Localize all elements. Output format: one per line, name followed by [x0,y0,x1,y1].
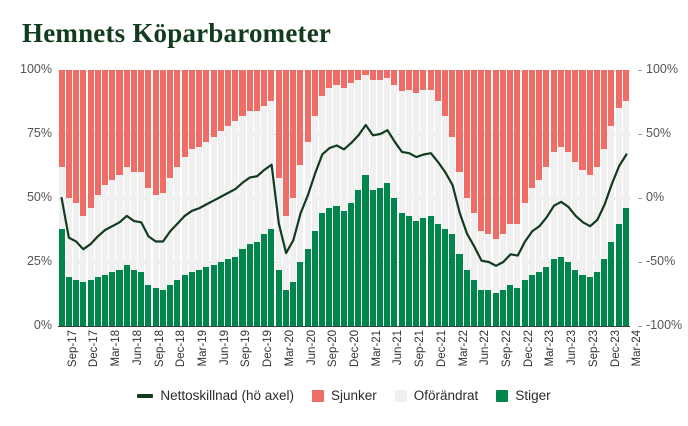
legend-color-swatch-icon [395,390,407,402]
y-axis-right-tick-label: 0% [646,190,664,204]
legend-item-label: Sjunker [331,388,377,403]
x-axis-tick-label: Dec-19 [262,330,274,367]
y-axis-left-tick-label: 75% [27,126,52,140]
x-axis-tick-label: Sep-23 [588,330,600,367]
y-axis-right-tickmark [638,326,642,327]
y-axis-left-tick-label: 0% [34,318,52,332]
y-axis-right-tick-label: -50% [646,254,675,268]
page-title: Hemnets Köparbarometer [22,18,331,49]
chart-legend: Nettoskillnad (hö axel)SjunkerOförändrat… [0,388,688,403]
y-axis-left-tick-label: 50% [27,190,52,204]
plot-area [58,70,630,326]
legend-color-swatch-icon [312,390,324,402]
x-axis-tick-label: Mar-20 [284,330,296,366]
x-axis-tick-label: Jun-20 [306,330,318,365]
y-axis-right: -100%-50%0%50%100% [638,0,688,426]
chart-page: Hemnets Köparbarometer 0%25%50%75%100% -… [0,0,688,426]
y-axis-right-tickmark [638,134,642,135]
x-axis-tick-label: Dec-20 [349,330,361,367]
x-axis-tick-label: Jun-23 [566,330,578,365]
x-axis-tick-label: Sep-22 [501,330,513,367]
legend-line-swatch-icon [137,394,153,398]
x-axis-tick-label: Mar-24 [631,330,643,366]
y-axis-right-tick-label: -100% [646,318,682,332]
legend-falling[interactable]: Sjunker [312,388,377,403]
y-axis-left: 0%25%50%75%100% [0,0,52,426]
x-axis-baseline [58,326,630,327]
y-axis-right-tickmark [638,262,642,263]
legend-item-label: Stiger [515,388,550,403]
plot-frame [58,70,630,326]
x-axis-labels: Sep-17Dec-17Mar-18Jun-18Sep-18Dec-18Mar-… [58,330,630,384]
y-axis-right-tick-label: 50% [646,126,671,140]
x-axis-tick-label: Dec-22 [523,330,535,367]
y-axis-right-tickmark [638,198,642,199]
x-axis-tick-label: Sep-19 [240,330,252,367]
legend-rising[interactable]: Stiger [496,388,550,403]
legend-unchanged[interactable]: Oförändrat [395,388,479,403]
legend-item-label: Oförändrat [414,388,479,403]
y-axis-left-tick-label: 100% [20,62,52,76]
net-difference-line [58,70,630,326]
x-axis-tick-label: Sep-18 [154,330,166,367]
y-axis-right-tickmark [638,70,642,71]
x-axis-tick-label: Dec-21 [436,330,448,367]
x-axis-tick-label: Mar-18 [110,330,122,366]
x-axis-tick-label: Jun-22 [479,330,491,365]
y-axis-right-tick-label: 100% [646,62,678,76]
x-axis-tick-label: Dec-18 [175,330,187,367]
x-axis-tick-label: Mar-22 [458,330,470,366]
x-axis-tick-label: Mar-19 [197,330,209,366]
x-axis-tick-label: Sep-17 [67,330,79,367]
x-axis-tick-label: Mar-21 [371,330,383,366]
legend-item-label: Nettoskillnad (hö axel) [160,388,294,403]
x-axis-tick-label: Jun-19 [219,330,231,365]
legend-color-swatch-icon [496,390,508,402]
legend-net-difference[interactable]: Nettoskillnad (hö axel) [137,388,294,403]
x-axis-tick-label: Dec-23 [610,330,622,367]
x-axis-tick-label: Dec-17 [88,330,100,367]
x-axis-tick-label: Sep-20 [327,330,339,367]
x-axis-tick-label: Jun-21 [392,330,404,365]
y-axis-left-tick-label: 25% [27,254,52,268]
x-axis-tick-label: Sep-21 [414,330,426,367]
net-difference-path [62,125,627,266]
x-axis-tick-label: Mar-23 [544,330,556,366]
x-axis-tick-label: Jun-18 [132,330,144,365]
